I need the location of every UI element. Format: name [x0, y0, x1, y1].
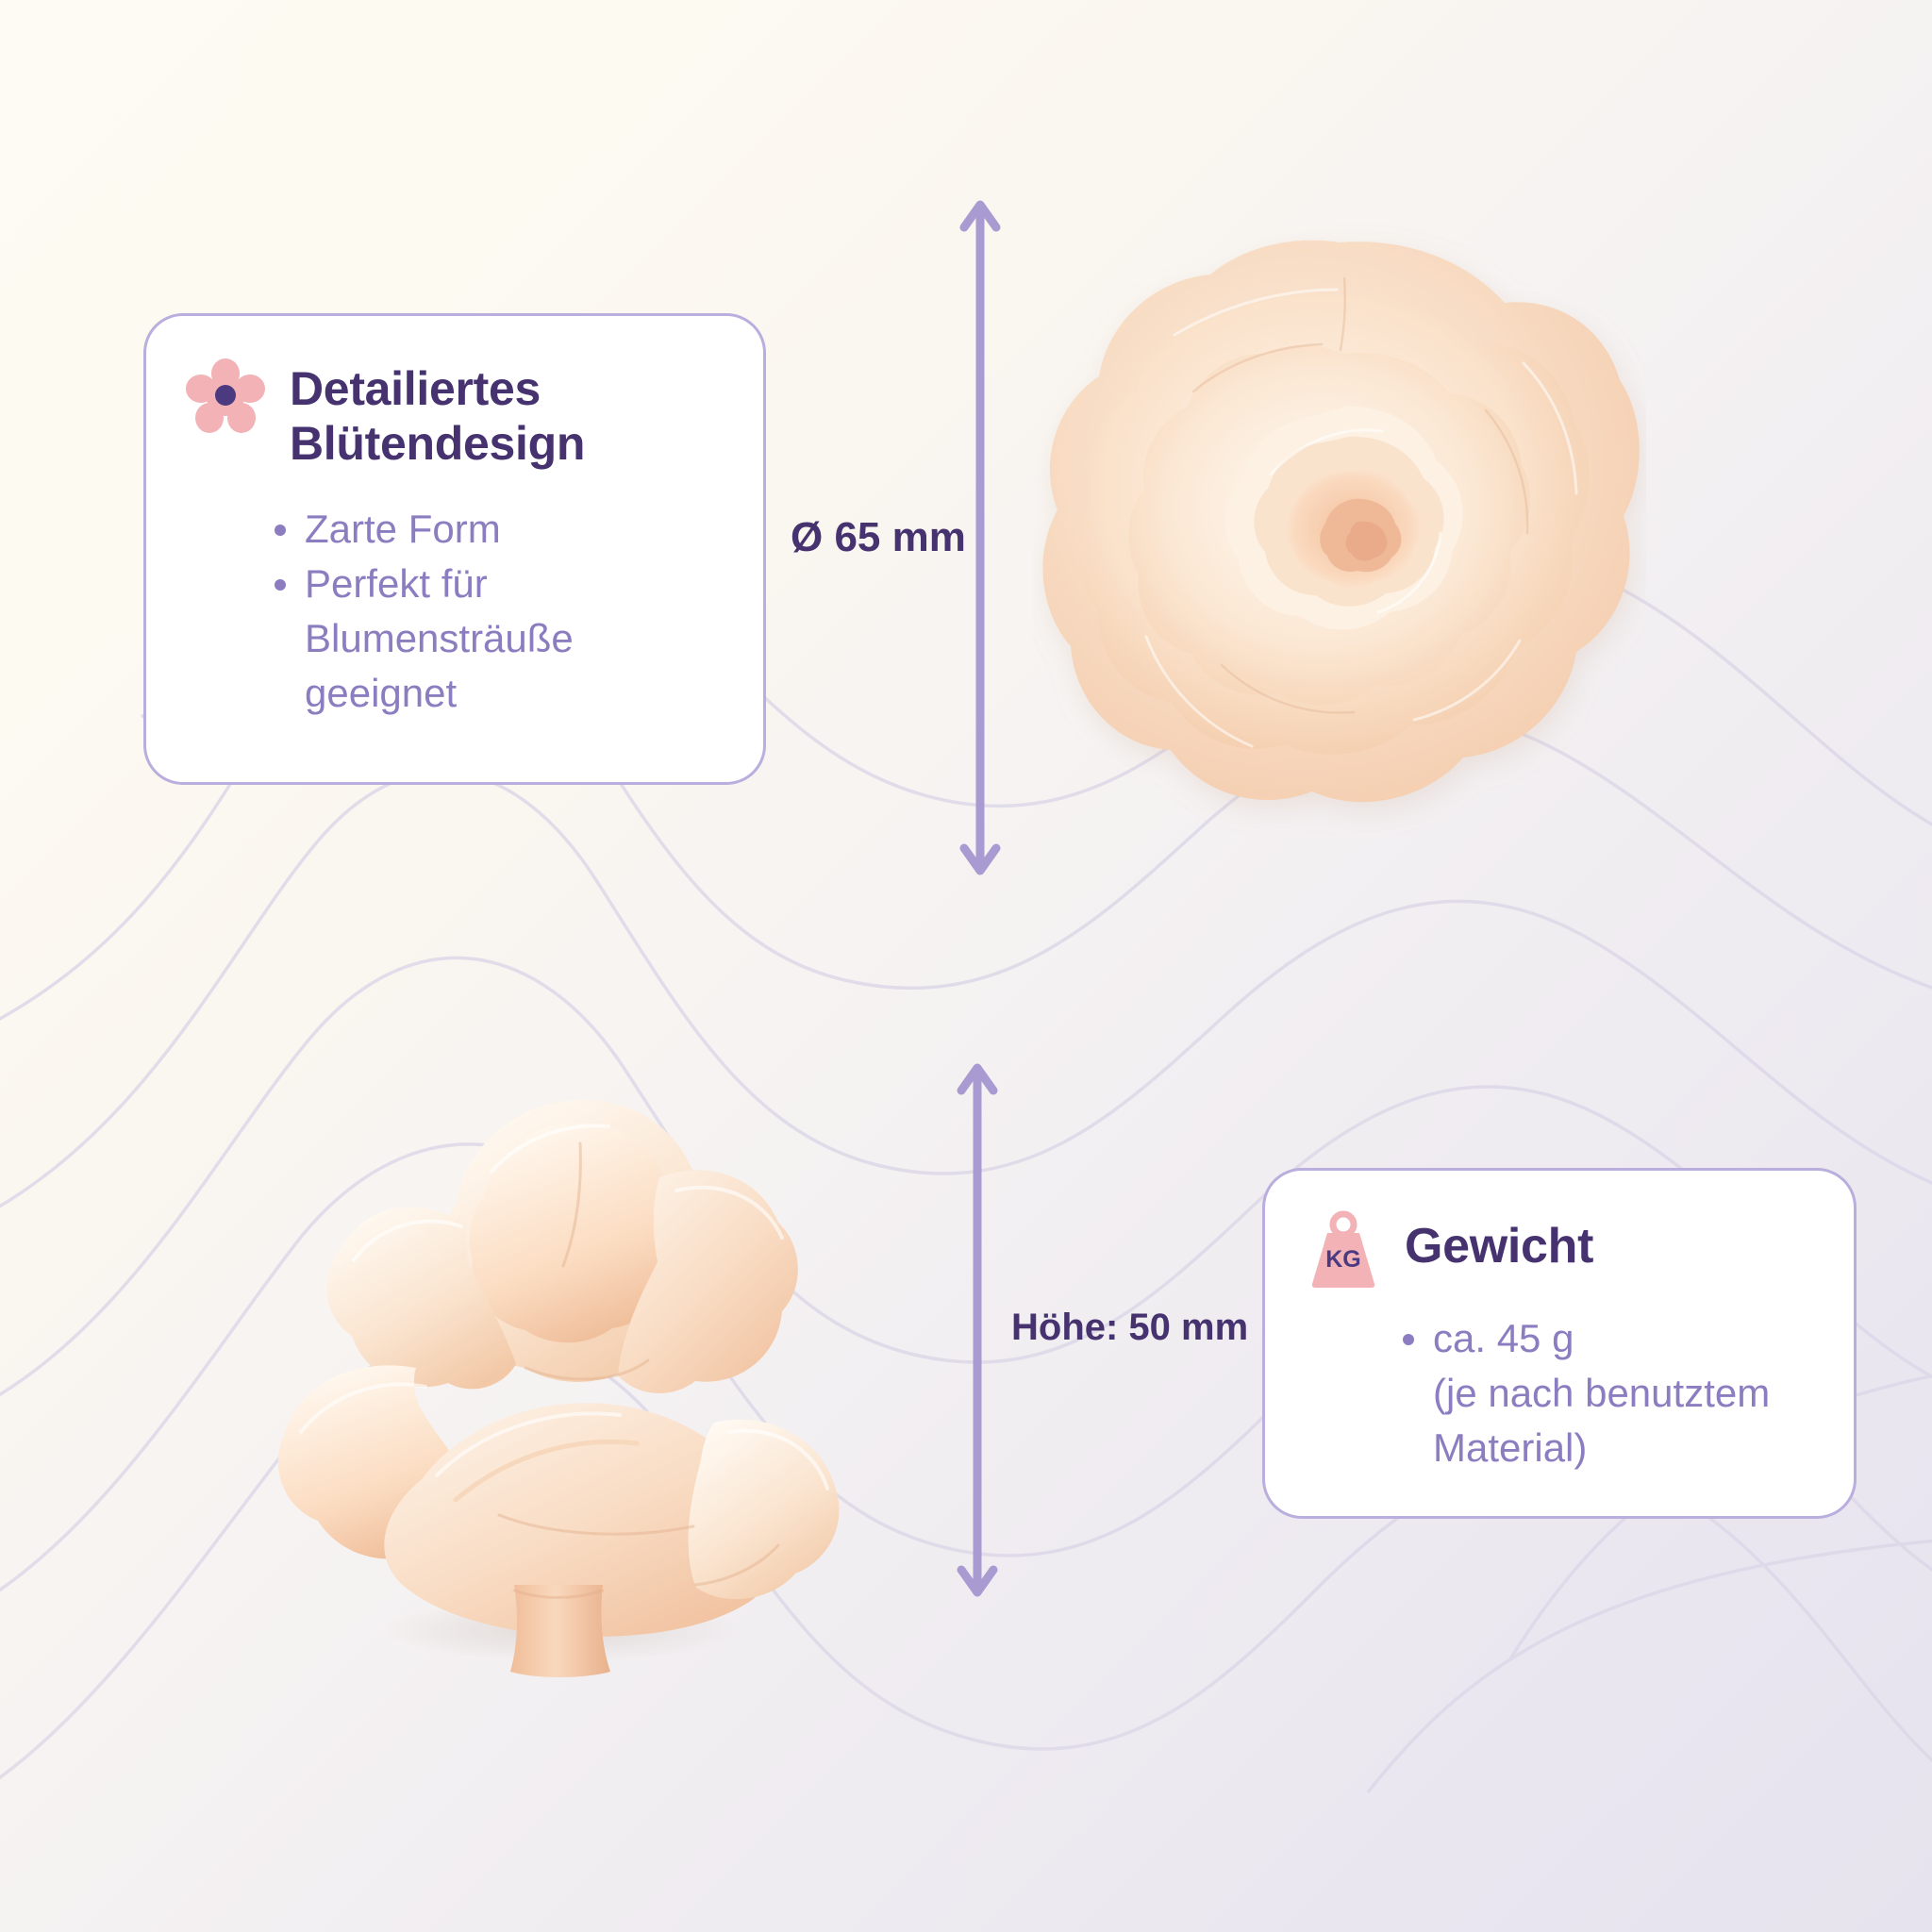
feature-card-bloom-design: Detailiertes Blütendesign Zarte Form Per…: [143, 313, 766, 785]
list-item: Zarte Form: [273, 503, 724, 556]
weight-icon-text: KG: [1325, 1246, 1361, 1273]
rose-candle-side-view-image: [231, 1057, 854, 1679]
list-item: Perfekt für: [273, 558, 724, 610]
flower-icon: [186, 358, 265, 437]
list-item-continuation: Blumensträuße: [273, 612, 724, 665]
height-label: Höhe: 50 mm: [1011, 1307, 1248, 1349]
card-header: Detailiertes Blütendesign: [186, 358, 724, 471]
rose-candle-top-view-image: [1033, 222, 1646, 835]
weight-feature-list: ca. 45 g (je nach benutztem Material): [1307, 1312, 1814, 1474]
weight-kg-icon: KG: [1307, 1208, 1380, 1290]
bloom-feature-list: Zarte Form Perfekt für Blumensträuße gee…: [186, 503, 724, 719]
card-title: Detailiertes Blütendesign: [290, 358, 724, 471]
feature-card-weight: KG Gewicht ca. 45 g (je nach benutztem M…: [1262, 1168, 1857, 1519]
diameter-label: Ø 65 mm: [791, 514, 966, 561]
list-item: ca. 45 g: [1401, 1312, 1814, 1365]
list-item-continuation: (je nach benutztem: [1401, 1367, 1814, 1420]
card-header: KG Gewicht: [1307, 1208, 1814, 1290]
height-dimension-arrow: [945, 1057, 1009, 1604]
list-item-continuation: Material): [1401, 1422, 1814, 1474]
card-title: Gewicht: [1405, 1208, 1593, 1274]
list-item-continuation: geeignet: [273, 667, 724, 720]
